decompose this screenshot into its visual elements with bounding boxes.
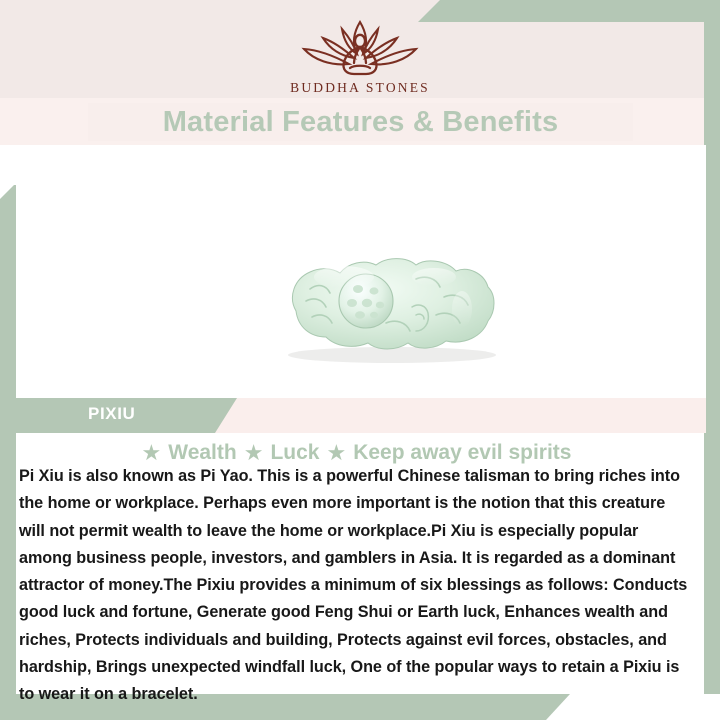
star-icon: ★ (142, 442, 162, 464)
description-text: Pi Xiu is also known as Pi Yao. This is … (19, 463, 691, 709)
decor-bar-right (704, 0, 720, 694)
star-icon: ★ (326, 442, 346, 464)
benefit-item-evil-spirits: ★ Keep away evil spirits (319, 441, 571, 465)
page-title: Material Features & Benefits (163, 106, 559, 139)
benefit-item-luck: ★ Luck (237, 441, 320, 465)
section-title-band: Material Features & Benefits (88, 103, 633, 141)
infographic-page: BUDDHA STONES Material Features & Benefi… (0, 0, 720, 720)
product-label-text: PIXIU (88, 404, 135, 424)
jade-pixiu-image (266, 245, 516, 365)
benefit-item-wealth: ★ Wealth (135, 441, 237, 465)
brand-logo: BUDDHA STONES (0, 16, 720, 96)
lotus-meditation-icon (286, 16, 434, 78)
brand-name: BUDDHA STONES (290, 80, 430, 96)
product-image-area (16, 145, 706, 398)
benefit-label: Luck (270, 441, 319, 465)
star-icon: ★ (244, 442, 264, 464)
benefit-label: Keep away evil spirits (353, 441, 571, 465)
benefit-label: Wealth (168, 441, 236, 465)
